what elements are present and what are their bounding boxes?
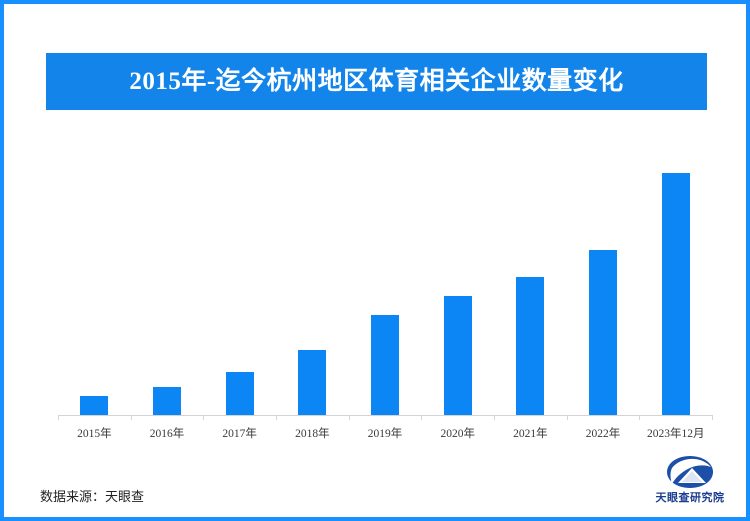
bar-slot [276, 154, 349, 415]
title-banner: 2015年-迄今杭州地区体育相关企业数量变化 [46, 53, 707, 110]
bar-chart: 2015年2016年2017年2018年2019年2020年2021年2022年… [4, 154, 746, 454]
x-axis-tick [567, 415, 568, 420]
x-axis-label: 2019年 [349, 425, 422, 441]
page-title: 2015年-迄今杭州地区体育相关企业数量变化 [129, 69, 623, 94]
bar-slot [203, 154, 276, 415]
bar-slot [494, 154, 567, 415]
bar[interactable] [226, 372, 254, 415]
x-axis-label: 2022年 [567, 425, 640, 441]
page-inner-surface: 2015年-迄今杭州地区体育相关企业数量变化 2015年2016年2017年20… [4, 4, 746, 517]
x-axis-tick [639, 415, 640, 420]
bar[interactable] [80, 396, 108, 415]
bar[interactable] [371, 315, 399, 415]
x-axis-label: 2018年 [276, 425, 349, 441]
bar[interactable] [589, 250, 617, 415]
bar-slot [567, 154, 640, 415]
x-axis-label: 2015年 [58, 425, 131, 441]
x-axis-tick [421, 415, 422, 420]
bar-series [58, 154, 712, 415]
infographic-page: 2015年-迄今杭州地区体育相关企业数量变化 2015年2016年2017年20… [0, 0, 750, 521]
x-axis-tick [494, 415, 495, 420]
x-axis-labels: 2015年2016年2017年2018年2019年2020年2021年2022年… [58, 425, 712, 441]
x-axis-label: 2021年 [494, 425, 567, 441]
x-axis-tick [276, 415, 277, 420]
bar[interactable] [444, 296, 472, 415]
bar-slot [131, 154, 204, 415]
x-axis-tick [131, 415, 132, 420]
bar-slot [58, 154, 131, 415]
bar[interactable] [662, 173, 690, 415]
bar[interactable] [153, 387, 181, 415]
tianyancha-mountain-eye-icon [666, 456, 714, 488]
x-axis-tick [349, 415, 350, 420]
x-axis-label: 2023年12月 [639, 425, 712, 441]
x-axis-tick [712, 415, 713, 420]
bar-slot [639, 154, 712, 415]
x-axis-label: 2017年 [203, 425, 276, 441]
x-axis-label: 2020年 [421, 425, 494, 441]
bar-slot [421, 154, 494, 415]
bar-slot [349, 154, 422, 415]
brand-logo: 天眼查研究院 [652, 456, 728, 508]
x-axis-ticks [58, 415, 712, 420]
brand-logo-text: 天眼查研究院 [652, 489, 728, 505]
x-axis-tick [58, 415, 59, 420]
x-axis-tick [203, 415, 204, 420]
data-source-note: 数据来源：天眼查 [40, 486, 144, 505]
chart-plot-area [58, 154, 712, 415]
bar[interactable] [298, 350, 326, 415]
x-axis-label: 2016年 [131, 425, 204, 441]
bar[interactable] [516, 277, 544, 415]
